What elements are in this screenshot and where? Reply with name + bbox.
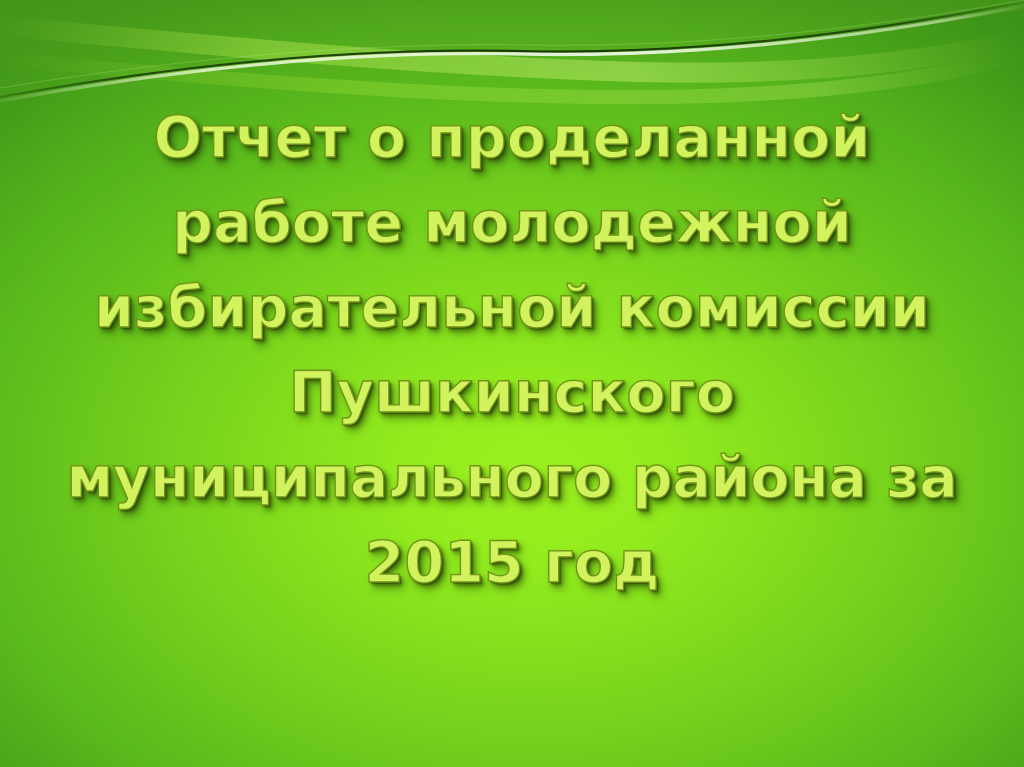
title-line-4: Пушкинского (57, 351, 967, 436)
slide-title: Отчет о проделанной работе молодежной из… (57, 96, 967, 606)
title-line-2: работе молодежной (57, 181, 967, 266)
title-line-1: Отчет о проделанной (57, 96, 967, 181)
header-light-curve (0, 6, 1024, 101)
header-dark-curve (0, 2, 1024, 97)
title-line-5: муниципального района за (57, 436, 967, 521)
header-top-wash (0, 0, 1024, 98)
title-line-3: избирательной комиссии (57, 266, 967, 351)
title-line-6: 2015 год (57, 521, 967, 606)
header-soft-band-upper (0, 16, 1024, 83)
presentation-slide: Отчет о проделанной работе молодежной из… (0, 0, 1024, 767)
header-hairline-accent (0, 0, 1024, 88)
